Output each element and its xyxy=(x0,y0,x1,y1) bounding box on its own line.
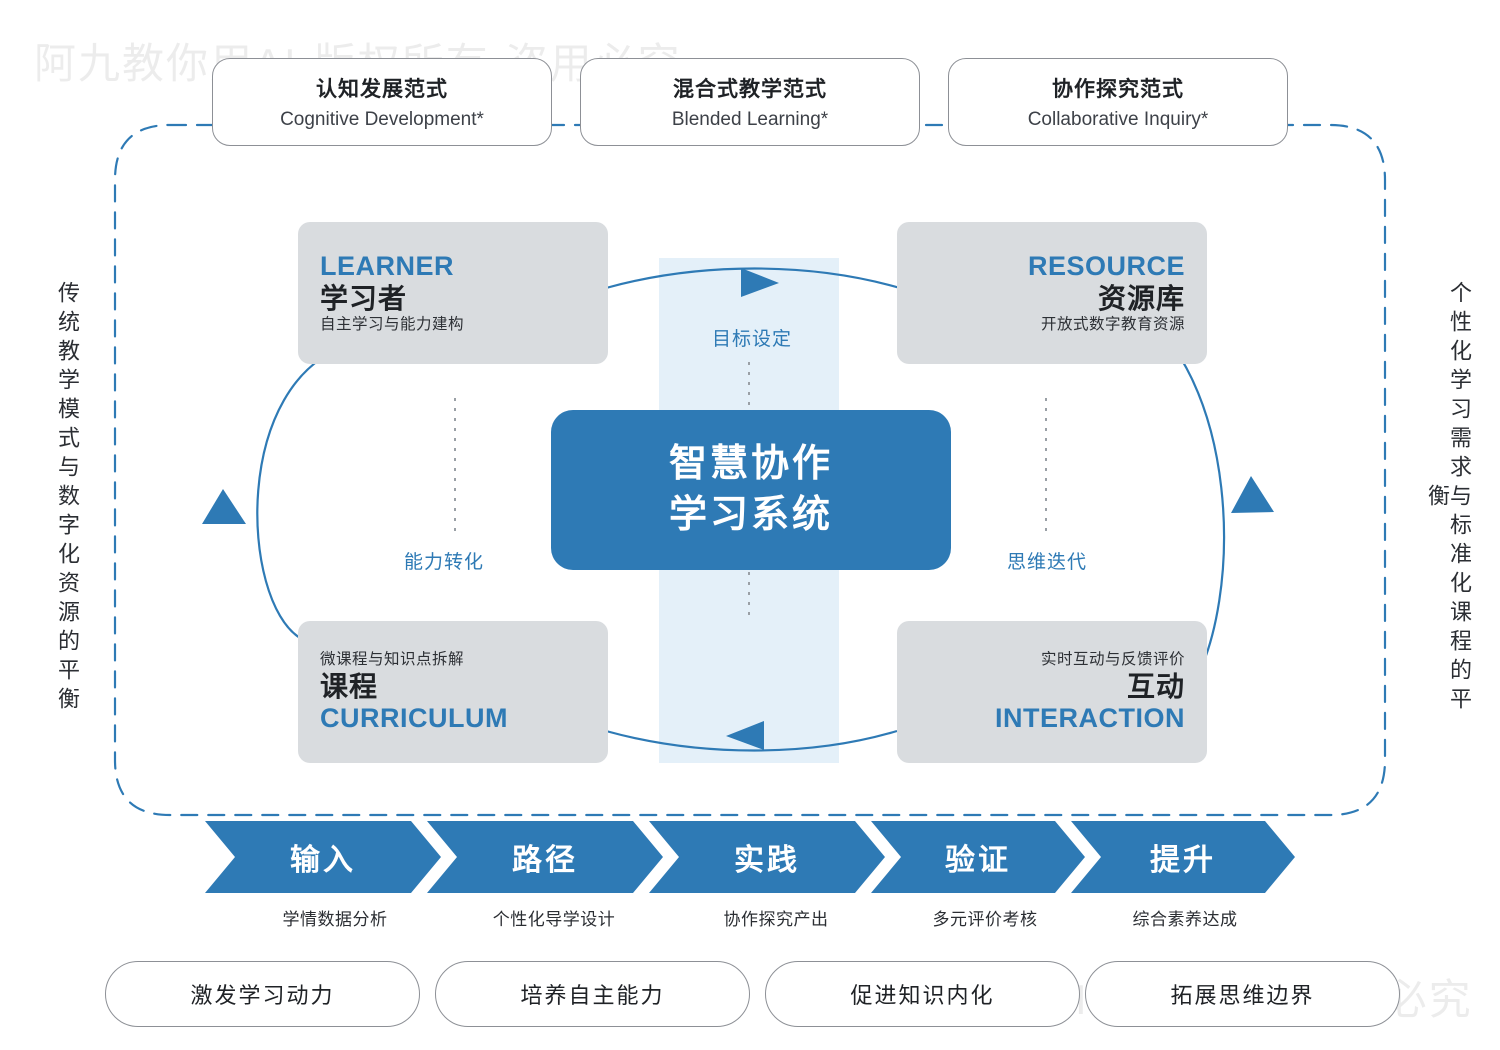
node-curriculum-sub: 微课程与知识点拆解 xyxy=(320,650,464,670)
node-resource[interactable]: RESOURCE 资源库 开放式数字教育资源 xyxy=(897,222,1207,364)
paradigm-title-cn: 协作探究范式 xyxy=(1052,73,1184,103)
process-caption-improve: 综合素养达成 xyxy=(1095,905,1275,930)
paradigm-title-en: Cognitive Development* xyxy=(280,109,484,131)
outcome-pill-label: 激发学习动力 xyxy=(190,978,334,1010)
node-curriculum-en: CURRICULUM xyxy=(320,703,508,734)
paradigm-title-cn: 认知发展范式 xyxy=(316,73,448,103)
outcome-pill-thinking-boundary[interactable]: 拓展思维边界 xyxy=(1085,961,1400,1027)
outcome-pill-internalization[interactable]: 促进知识内化 xyxy=(765,961,1080,1027)
node-learner-cn: 学习者 xyxy=(320,282,407,316)
arrowhead-left xyxy=(202,489,246,524)
node-resource-en: RESOURCE xyxy=(1028,251,1185,282)
node-resource-cn: 资源库 xyxy=(1098,282,1185,316)
node-learner-sub: 自主学习与能力建构 xyxy=(320,315,464,335)
paradigm-title-cn: 混合式教学范式 xyxy=(673,73,827,103)
paradigm-card-cognitive-development[interactable]: 认知发展范式 Cognitive Development* xyxy=(212,58,552,146)
process-step-title: 验证 xyxy=(945,835,1011,879)
process-caption-input: 学情数据分析 xyxy=(245,905,425,930)
process-step-path[interactable]: 路径 xyxy=(427,821,663,893)
outcome-pill-label: 促进知识内化 xyxy=(850,978,994,1010)
process-step-title: 输入 xyxy=(290,835,356,879)
outcome-pill-autonomy[interactable]: 培养自主能力 xyxy=(435,961,750,1027)
edge-label-ability-transfer: 能力转化 xyxy=(404,547,484,574)
outcome-pill-label: 拓展思维边界 xyxy=(1170,978,1314,1010)
paradigm-card-blended-learning[interactable]: 混合式教学范式 Blended Learning* xyxy=(580,58,920,146)
process-step-validation[interactable]: 验证 xyxy=(871,821,1085,893)
arrowhead-right xyxy=(1231,476,1274,513)
center-hub[interactable]: 智慧协作 学习系统 xyxy=(551,410,951,570)
node-interaction[interactable]: 实时互动与反馈评价 互动 INTERACTION xyxy=(897,621,1207,763)
process-caption-validation: 多元评价考核 xyxy=(895,905,1075,930)
diagram-canvas: 阿九教你用AI·版权所有·盗用必究 阿九教你用AI·版权所有·盗用必究 xyxy=(0,0,1500,1050)
node-resource-sub: 开放式数字教育资源 xyxy=(1041,315,1185,335)
edge-label-goal-setting: 目标设定 xyxy=(712,324,792,351)
side-caption-right: 个性化学习需求与标准化课程的平衡 xyxy=(1424,268,1470,728)
hub-line-2: 学习系统 xyxy=(669,491,833,540)
node-curriculum-cn: 课程 xyxy=(320,670,378,704)
paradigm-title-en: Collaborative Inquiry* xyxy=(1028,109,1209,131)
node-curriculum[interactable]: 微课程与知识点拆解 课程 CURRICULUM xyxy=(298,621,608,763)
hub-line-1: 智慧协作 xyxy=(669,440,833,489)
process-caption-practice: 协作探究产出 xyxy=(681,905,871,930)
node-interaction-en: INTERACTION xyxy=(995,703,1185,734)
node-learner[interactable]: LEARNER 学习者 自主学习与能力建构 xyxy=(298,222,608,364)
side-caption-left: 传统教学模式与数字化资源的平衡 xyxy=(32,268,78,728)
process-step-practice[interactable]: 实践 xyxy=(649,821,885,893)
process-step-input[interactable]: 输入 xyxy=(205,821,441,893)
paradigm-card-collaborative-inquiry[interactable]: 协作探究范式 Collaborative Inquiry* xyxy=(948,58,1288,146)
arrow-ability-transfer xyxy=(257,345,350,638)
process-chevron-bar: 输入 路径 实践 验证 提升 学情数据分析 个性化导学设计 协作探究产出 多元评… xyxy=(205,821,1295,893)
node-learner-en: LEARNER xyxy=(320,251,454,282)
node-interaction-sub: 实时互动与反馈评价 xyxy=(1041,650,1185,670)
process-step-title: 实践 xyxy=(734,835,800,879)
process-step-title: 路径 xyxy=(512,835,578,879)
outcome-pill-label: 培养自主能力 xyxy=(520,978,664,1010)
process-caption-path: 个性化导学设计 xyxy=(459,905,649,930)
edge-label-thinking-iteration: 思维迭代 xyxy=(1007,547,1087,574)
process-step-title: 提升 xyxy=(1150,835,1216,879)
process-step-improve[interactable]: 提升 xyxy=(1071,821,1295,893)
node-interaction-cn: 互动 xyxy=(1127,670,1185,704)
outcome-pill-motivation[interactable]: 激发学习动力 xyxy=(105,961,420,1027)
paradigm-title-en: Blended Learning* xyxy=(672,109,828,131)
